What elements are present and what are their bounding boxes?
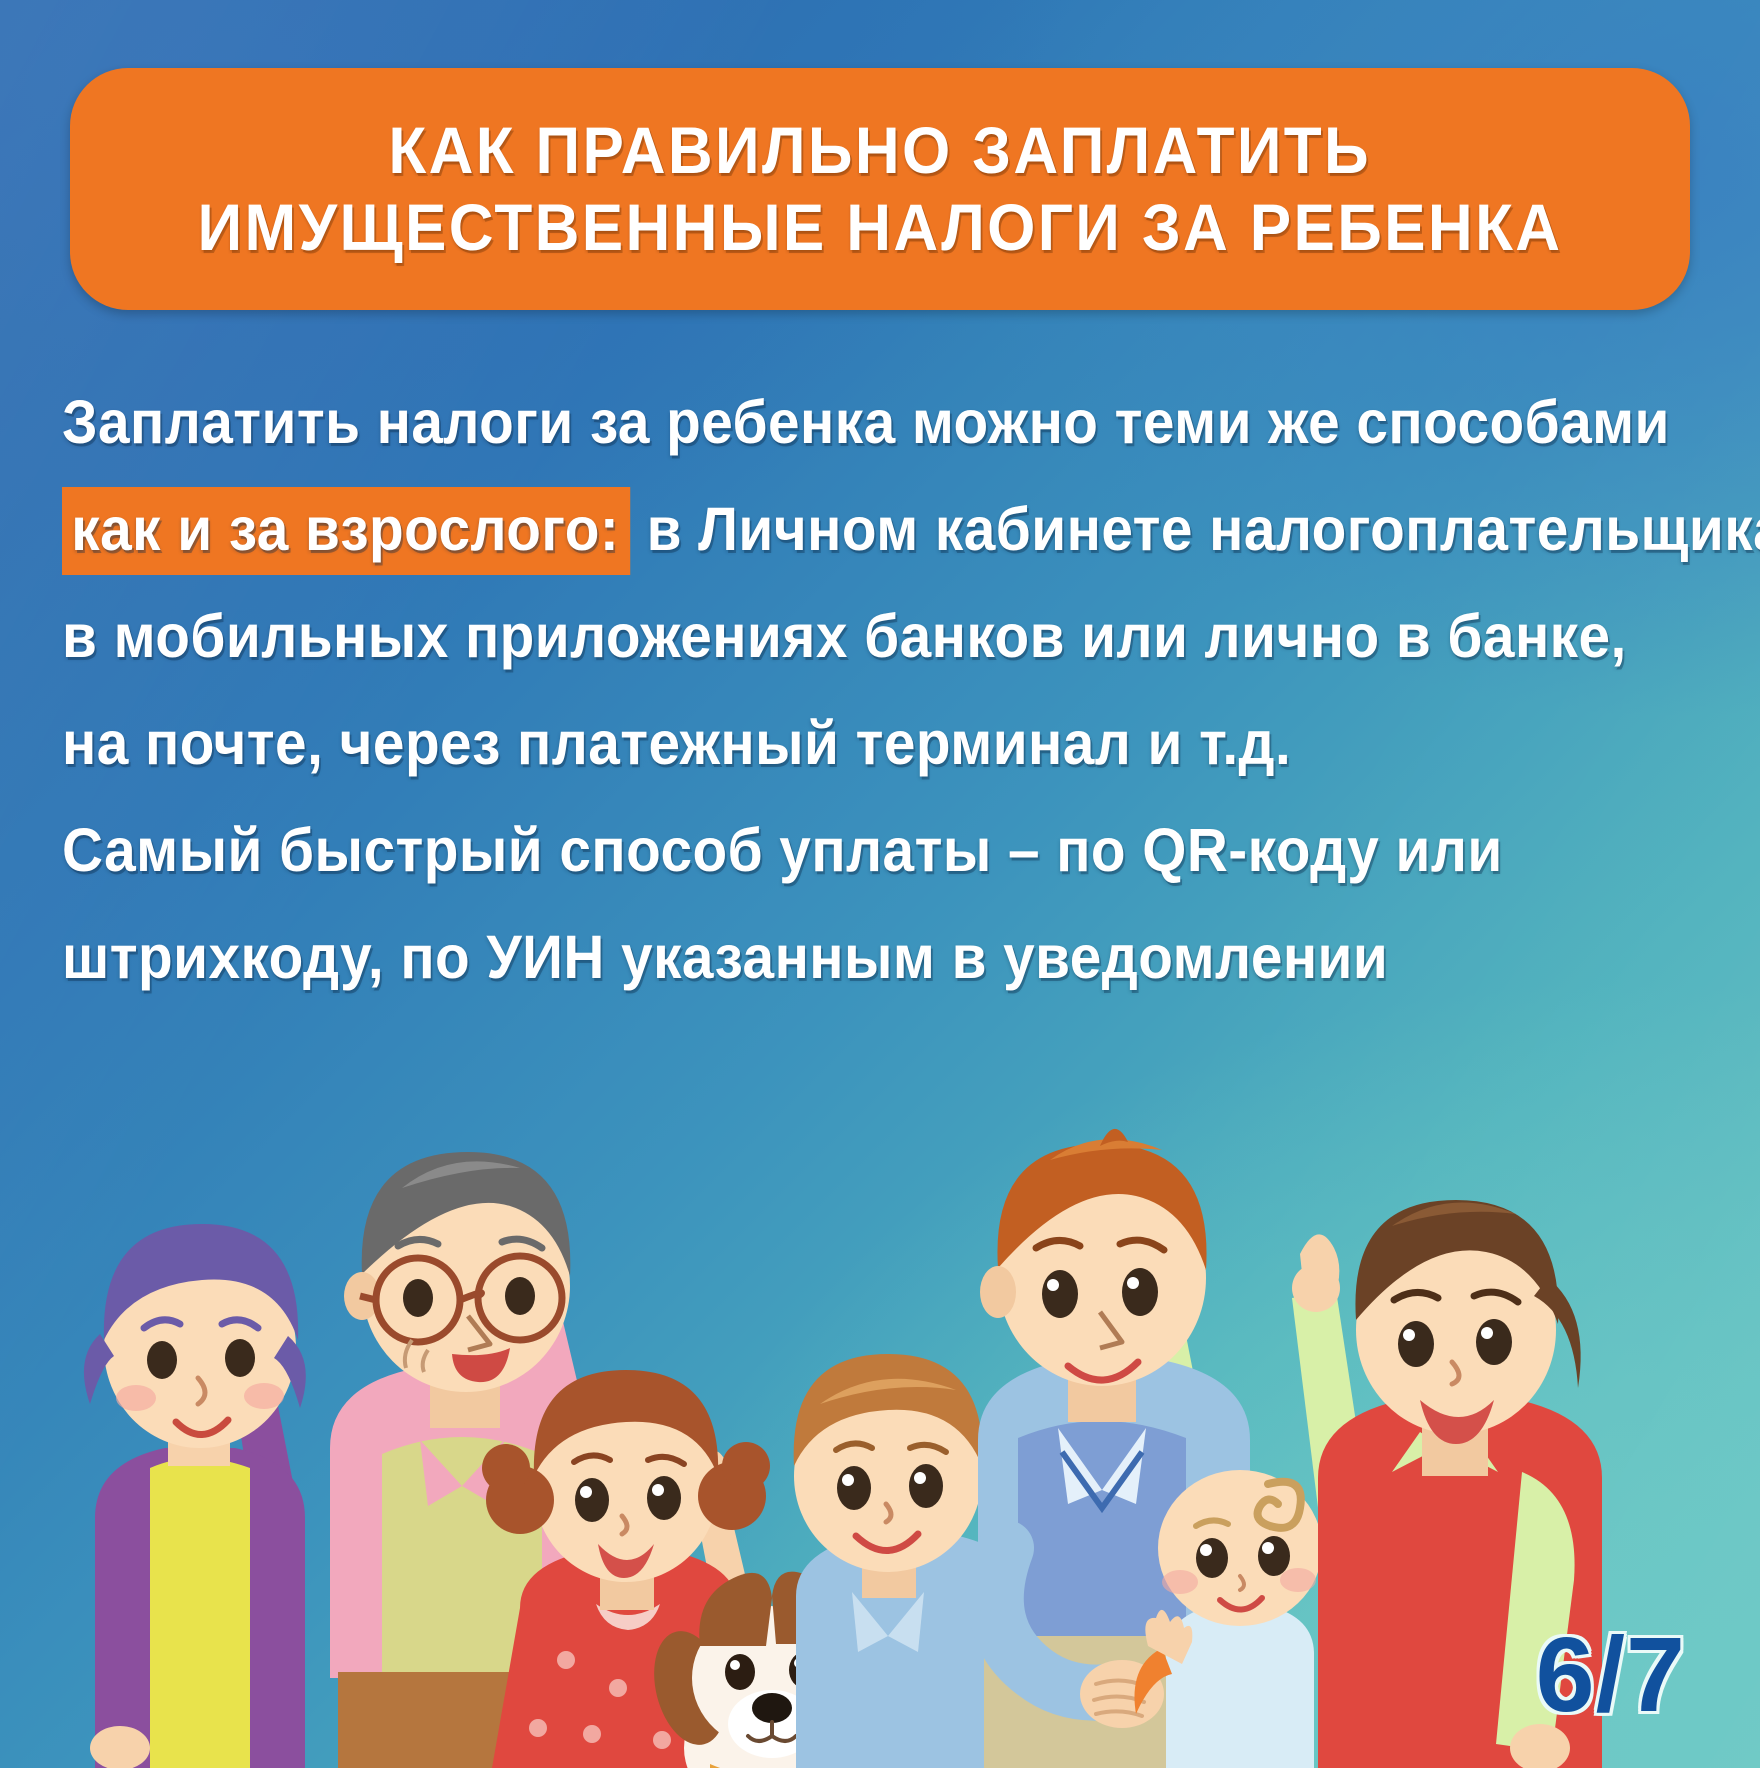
family-illustration: [0, 1048, 1760, 1768]
title-line-2: ИМУЩЕСТВЕННЫЕ НАЛОГИ ЗА РЕБЕНКА: [198, 189, 1563, 266]
title-banner: КАК ПРАВИЛЬНО ЗАПЛАТИТЬ ИМУЩЕСТВЕННЫЕ НА…: [70, 68, 1690, 310]
body-line-2-rest: в Личном кабинете налогоплательщика,: [647, 495, 1760, 563]
body-line-1: Заплатить налоги за ребенка можно теми ж…: [62, 392, 1606, 453]
figure-grandmother: [84, 1224, 306, 1768]
infographic-poster: КАК ПРАВИЛЬНО ЗАПЛАТИТЬ ИМУЩЕСТВЕННЫЕ НА…: [0, 0, 1760, 1768]
body-line-2: как и за взрослого: в Личном кабинете на…: [62, 499, 1606, 560]
body-text-block: Заплатить налоги за ребенка можно теми ж…: [62, 392, 1722, 988]
body-line-4: на почте, через платежный терминал и т.д…: [62, 713, 1606, 774]
body-line-6: штрихкоду, по УИН указанным в уведомлени…: [62, 927, 1606, 988]
body-line-3: в мобильных приложениях банков или лично…: [62, 606, 1606, 667]
highlighted-phrase: как и за взрослого:: [62, 487, 630, 575]
page-counter: 6/7: [1536, 1622, 1686, 1728]
body-line-5: Самый быстрый способ уплаты – по QR-коду…: [62, 820, 1606, 881]
title-line-1: КАК ПРАВИЛЬНО ЗАПЛАТИТЬ: [389, 112, 1372, 189]
